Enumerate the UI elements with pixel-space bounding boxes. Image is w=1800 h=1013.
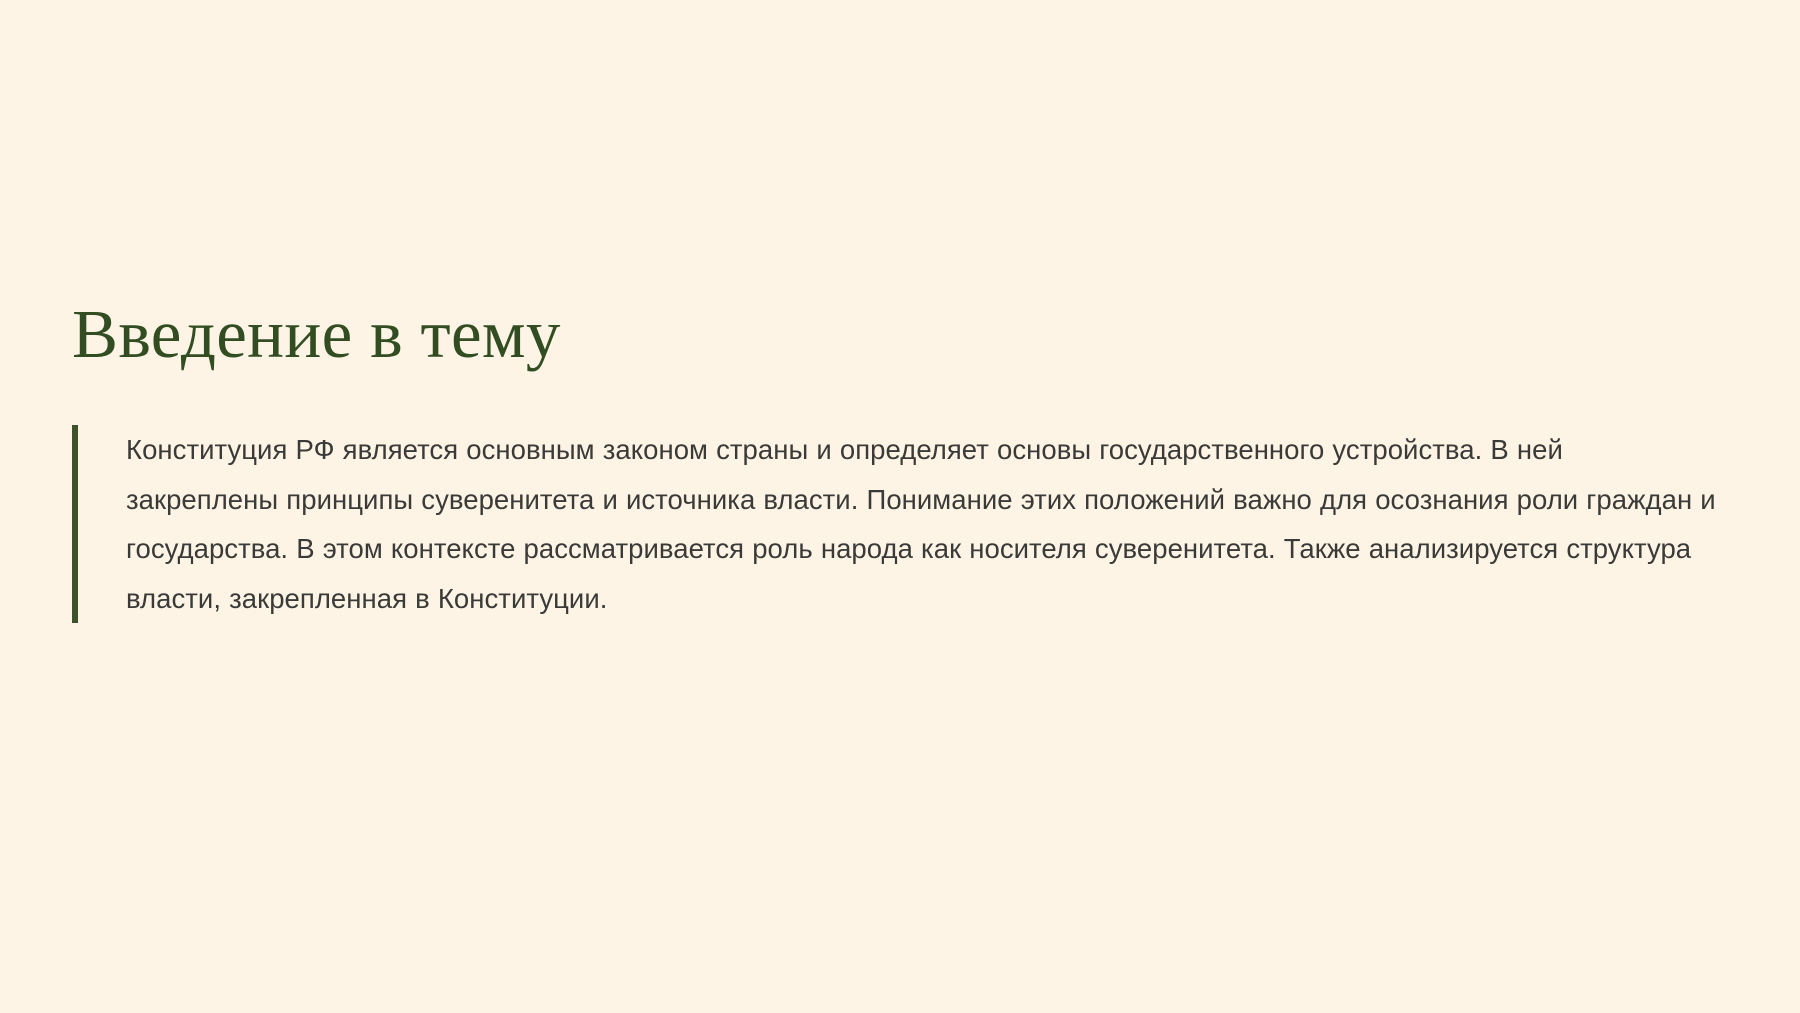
body-callout-block: Конституция РФ является основным законом… (72, 425, 1728, 623)
body-paragraph: Конституция РФ является основным законом… (126, 425, 1718, 623)
body-text-container: Конституция РФ является основным законом… (78, 425, 1728, 623)
slide-canvas: Введение в тему Конституция РФ является … (0, 0, 1800, 1013)
slide-content: Введение в тему Конституция РФ является … (72, 296, 1728, 623)
page-title: Введение в тему (72, 296, 1728, 373)
